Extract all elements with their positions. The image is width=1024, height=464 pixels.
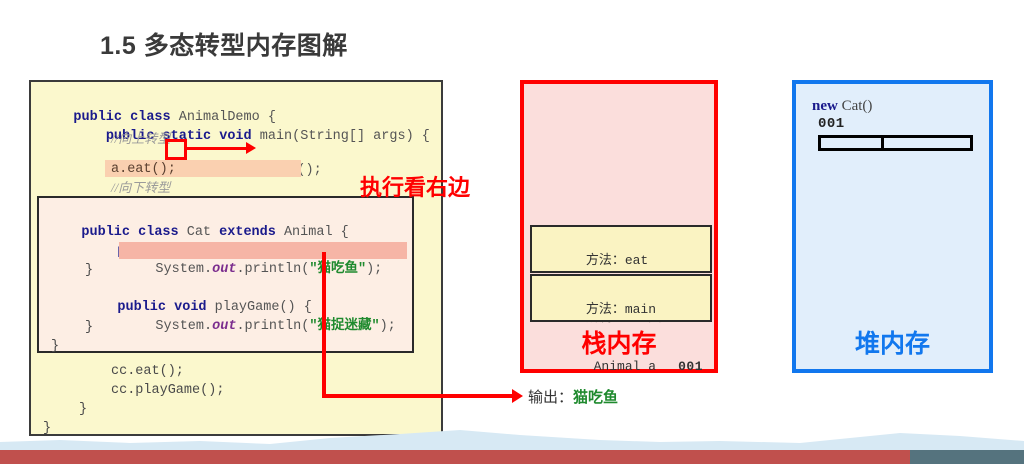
system-ref: System. (155, 262, 212, 277)
value-method-1: eat (625, 253, 648, 268)
stack-memory-label: 栈内存 (524, 324, 714, 360)
indent-spacer (73, 129, 105, 144)
page-title: 1.5 多态转型内存图解 (100, 26, 348, 62)
stack-frame-main: 方法：main Animal a001 (530, 274, 712, 322)
label-method-2: 方法： (586, 302, 625, 317)
code-line-close-main: } (79, 401, 87, 419)
heap-memory-box: new Cat() 001 堆内存 (792, 80, 993, 373)
inner-code-panel-cat-class: public class Cat extends Animal { public… (37, 196, 414, 353)
code-line-cc-eat: cc.eat(); (111, 363, 184, 381)
value-var-animal-a: Animal a (586, 359, 656, 374)
footer-mountain-decoration (0, 428, 1024, 450)
footer-bar-red (0, 450, 910, 464)
code-line-close-cat-class: } (51, 338, 59, 356)
code-line-println-cat-hide-seek: System.out.println("猫捉迷藏"); (123, 300, 396, 354)
label-method-1: 方法： (586, 253, 625, 268)
arrow-a-to-cat-line (187, 147, 250, 150)
stmt-end-1: ); (366, 262, 382, 277)
system-ref-2: System. (155, 319, 212, 334)
exec-note-label: 执行看右边 (360, 170, 470, 202)
flow-line-horizontal (322, 394, 514, 398)
code-line-a-eat: a.eat(); (111, 161, 176, 179)
stack-frame-eat: 方法：eat 所属：Cat类 (530, 225, 712, 273)
flow-line-arrowhead-icon (512, 389, 523, 403)
string-cat-eats-fish: "猫吃鱼" (309, 262, 366, 277)
ctor-cat-heap: Cat() (838, 98, 873, 114)
string-cat-hide-seek: "猫捉迷藏" (309, 319, 379, 334)
heap-memory-label: 堆内存 (796, 324, 989, 360)
superclass-animal: Animal { (276, 225, 349, 240)
main-signature: main(String[] args) { (252, 129, 430, 144)
heap-object-cell-right (884, 138, 970, 148)
code-line-cc-playgame: cc.playGame(); (111, 382, 224, 400)
variable-a-highlight-box (165, 139, 187, 160)
stack-memory-box: 方法：eat 所属：Cat类 方法：main Animal a001 栈内存 (520, 80, 718, 373)
keyword-new-heap: new (812, 98, 838, 114)
value-method-2: main (625, 302, 656, 317)
heap-object-address: 001 (818, 116, 845, 132)
stmt-end-2: ); (380, 319, 396, 334)
heap-object-field-bar (818, 135, 973, 151)
heap-object-cell-left (821, 138, 884, 148)
println-call-2: .println( (236, 319, 309, 334)
out-field: out (212, 262, 236, 277)
arrow-a-to-cat-head-icon (246, 142, 256, 154)
footer-bar-teal (910, 450, 1024, 464)
comment-downcast: //向下转型 (111, 179, 170, 197)
out-field-2: out (212, 319, 236, 334)
println-call: .println( (236, 262, 309, 277)
flow-line-vertical (322, 252, 326, 396)
code-line-close-eat: } (85, 262, 93, 280)
heap-new-cat-expression: new Cat() (812, 98, 872, 115)
code-line-close-playgame: } (85, 319, 93, 337)
